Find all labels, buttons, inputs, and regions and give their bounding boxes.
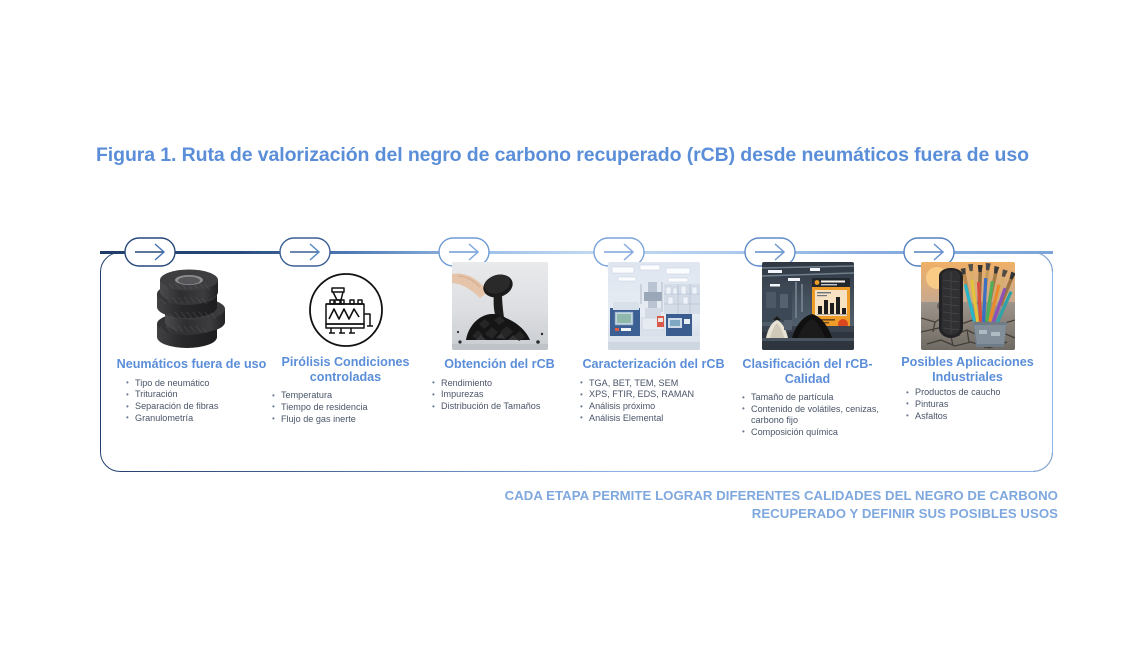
list-item: Tiempo de residencia [272,402,425,413]
list-item: Tipo de neumático [126,378,271,389]
list-item: XPS, FTIR, EDS, RAMAN [580,389,733,400]
stage-2-title: Pirólisis Condiciones controladas [266,355,425,384]
list-item: Temperatura [272,390,425,401]
tire-stack-photo [151,266,233,350]
stage-4-title: Caracterización del rCB [574,357,733,372]
carbon-black-pour-photo [452,262,548,350]
list-item: Pinturas [906,399,1047,410]
stage-1-media [112,252,271,350]
stage-2-bullets: Temperatura Tiempo de residencia Flujo d… [272,390,425,425]
list-item: Trituración [126,389,271,400]
stage-1-title: Neumáticos fuera de uso [112,357,271,372]
page-title: Figura 1. Ruta de valorización del negro… [96,142,1046,169]
list-item: Productos de caucho [906,387,1047,398]
list-item: Flujo de gas inerte [272,414,425,425]
list-item: Análisis Elemental [580,413,733,424]
stage-6-title: Posibles Aplicaciones Industriales [888,355,1047,384]
list-item: Distribución de Tamaños [432,401,579,412]
list-item: Análisis próximo [580,401,733,412]
stage-2-media [266,252,425,350]
stage-1-bullets: Tipo de neumático Trituración Separación… [126,378,271,424]
stage-column-1: Neumáticos fuera de uso Tipo de neumátic… [112,252,271,472]
list-item: Rendimiento [432,378,579,389]
stage-5-media [728,252,887,350]
list-item: Composición química [742,427,887,438]
list-item: Asfaltos [906,411,1047,422]
pyrolysis-reactor-icon [307,270,385,350]
list-item: Contenido de volátiles, cenizas, carbono… [742,404,887,426]
stage-3-bullets: Rendimiento Impurezas Distribución de Ta… [432,378,579,413]
stage-4-media [574,252,733,350]
stage-5-bullets: Tamaño de partícula Contenido de volátil… [742,392,887,438]
carbon-black-plant-photo [762,262,854,350]
stage-3-title: Obtención del rCB [420,357,579,372]
stage-6-bullets: Productos de caucho Pinturas Asfaltos [906,387,1047,422]
stage-6-media [888,252,1047,350]
stage-4-bullets: TGA, BET, TEM, SEM XPS, FTIR, EDS, RAMAN… [580,378,733,424]
stage-column-4: Caracterización del rCB TGA, BET, TEM, S… [574,252,733,472]
stage-column-5: Clasificación del rCB-Calidad Tamaño de … [728,252,887,472]
figure-caption: CADA ETAPA PERMITE LOGRAR DIFERENTES CAL… [470,487,1058,524]
stage-column-6: Posibles Aplicaciones Industriales Produ… [888,252,1047,472]
list-item: TGA, BET, TEM, SEM [580,378,733,389]
list-item: Tamaño de partícula [742,392,887,403]
list-item: Granulometría [126,413,271,424]
stage-3-media [420,252,579,350]
list-item: Separación de fibras [126,401,271,412]
stage-column-2: Pirólisis Condiciones controladas Temper… [266,252,425,472]
stage-column-3: Obtención del rCB Rendimiento Impurezas … [420,252,579,472]
stage-5-title: Clasificación del rCB-Calidad [728,357,887,386]
tire-and-brushes-photo [921,262,1015,350]
list-item: Impurezas [432,389,579,400]
laboratory-equipment-photo [608,262,700,350]
